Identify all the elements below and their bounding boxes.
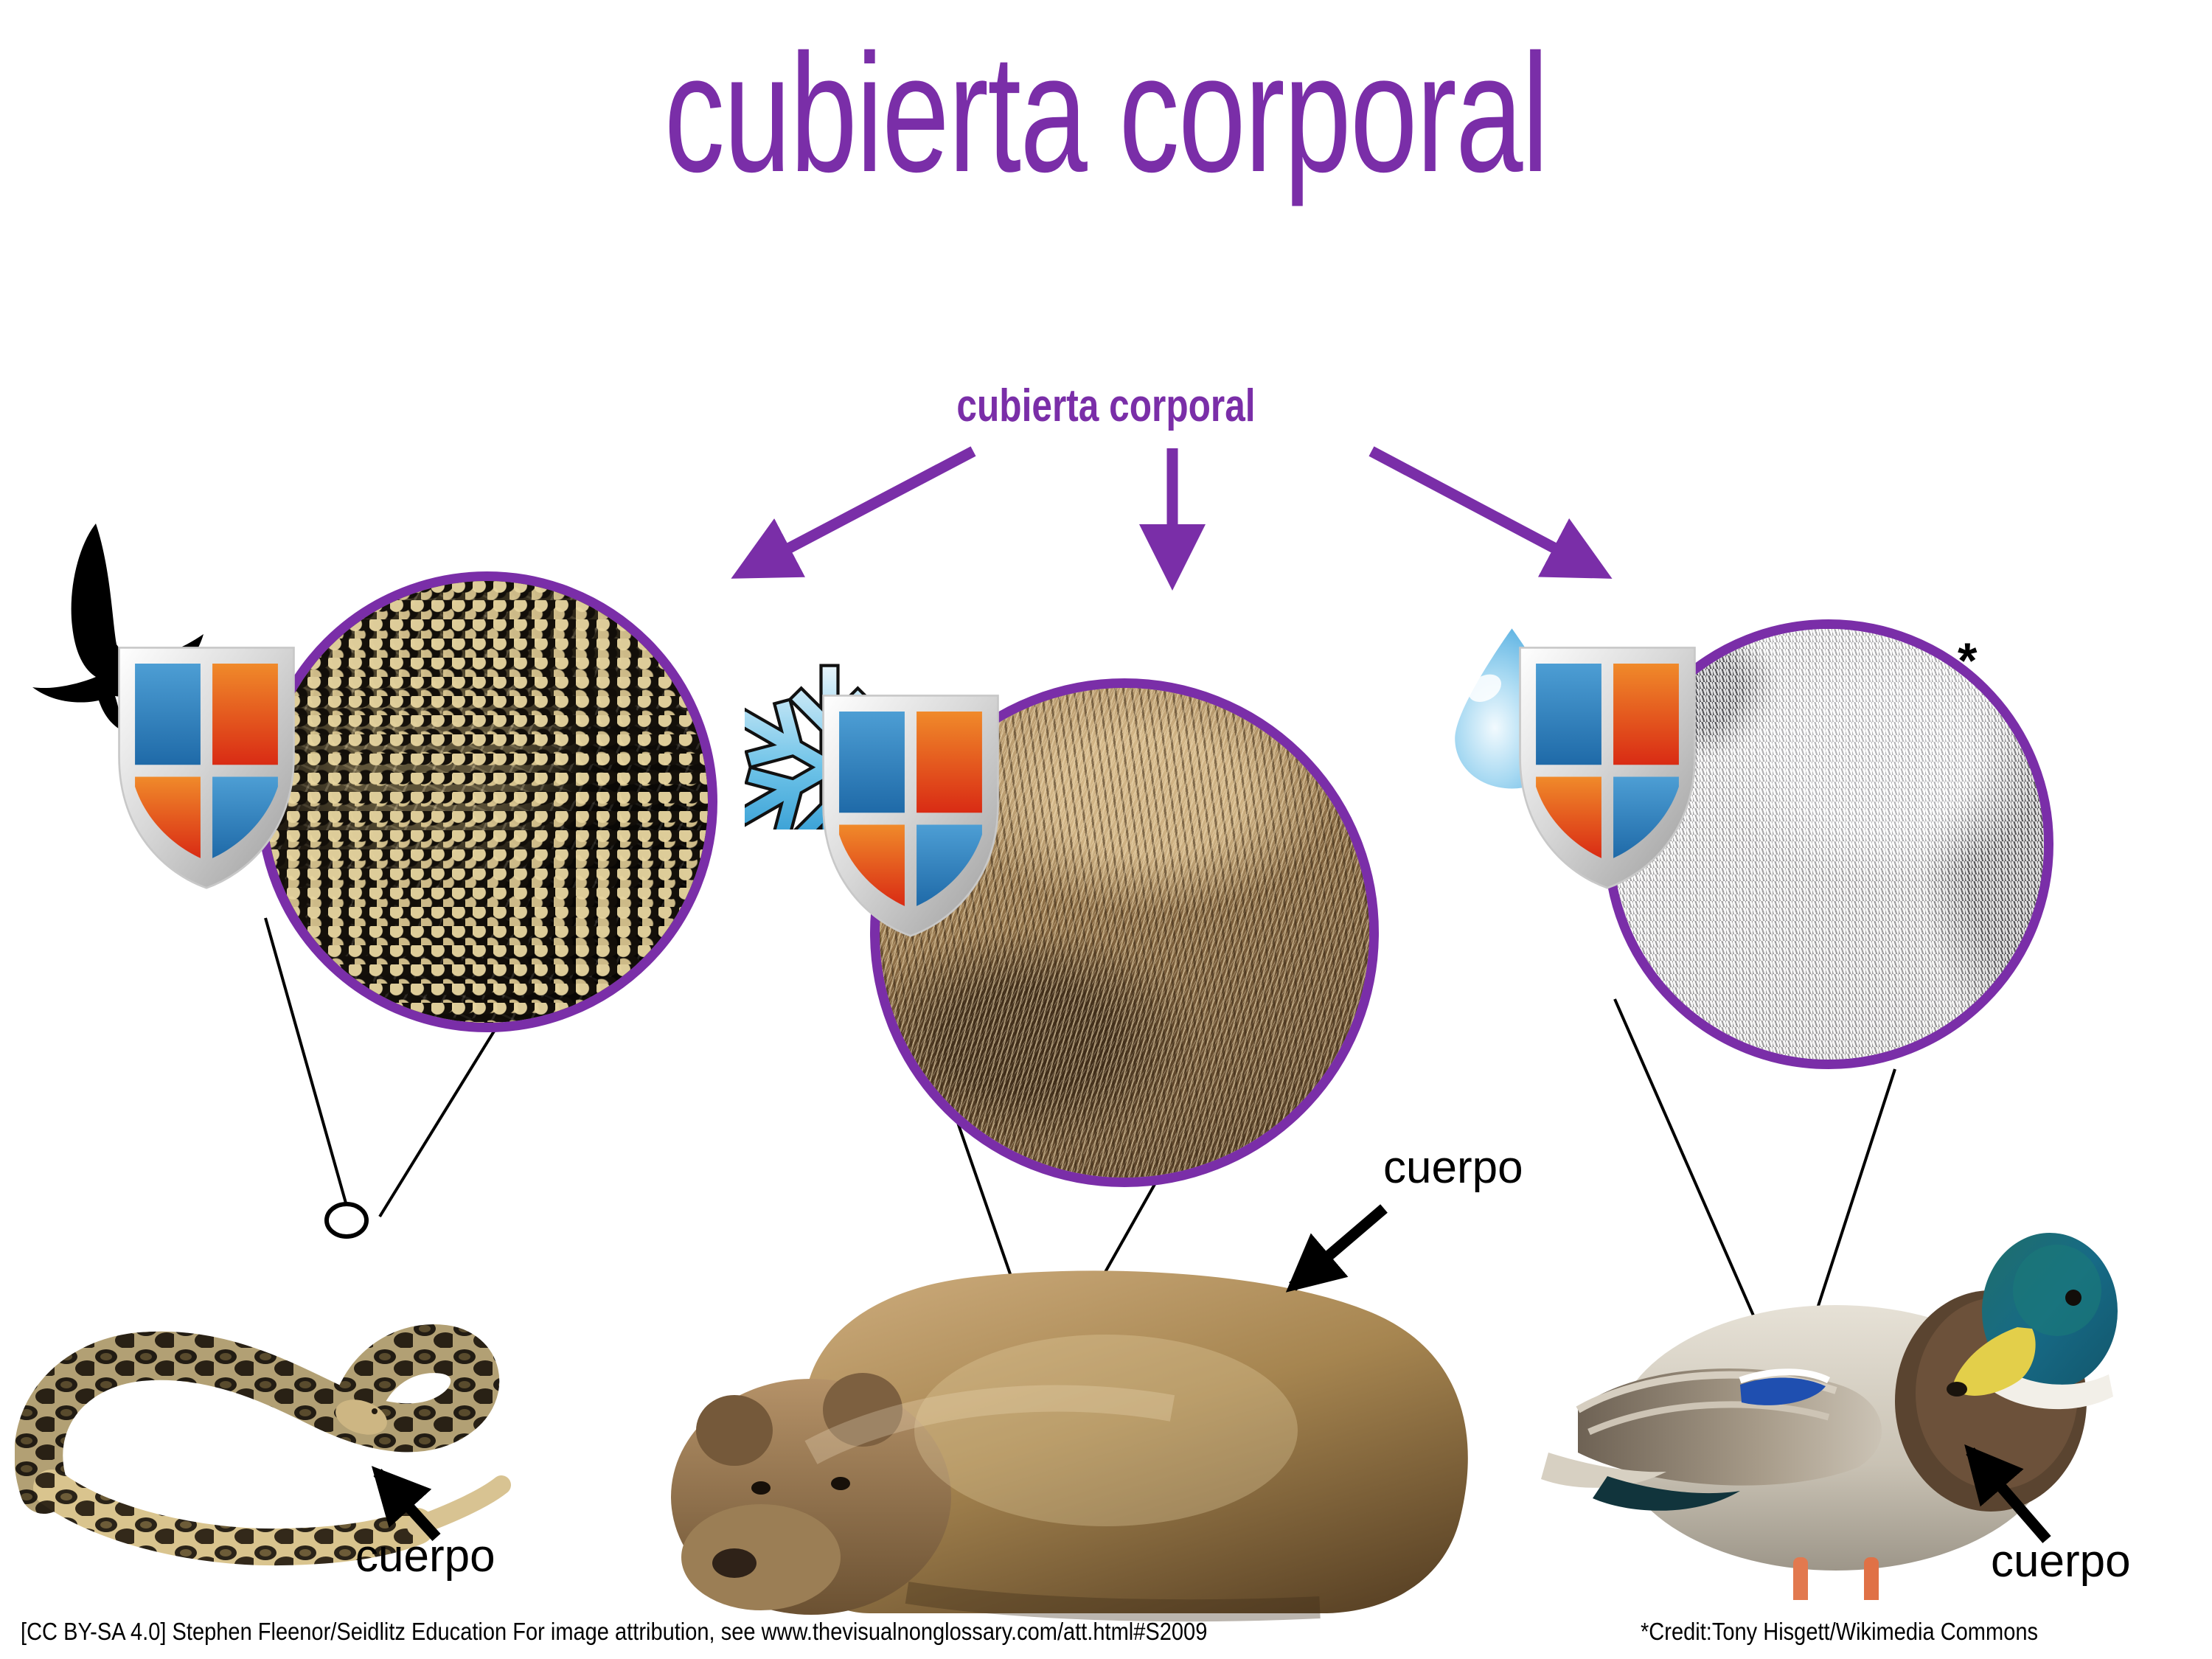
shield-icon [107,638,306,896]
callout-arrows [664,435,1696,605]
credit-text: *Credit:Tony Hisgett/Wikimedia Commons [1641,1618,2038,1646]
poster-canvas: cubierta corporal cubierta corporal [0,0,2212,1659]
shield-icon [1508,638,1707,896]
shield-icon [811,686,1010,944]
attribution-text: [CC BY-SA 4.0] Stephen Fleenor/Seidlitz … [21,1618,1207,1646]
snake-scales-texture [266,581,708,1023]
body-arrow-duck [1932,1438,2065,1548]
magnifier-snake-scales [257,571,717,1032]
page-title: cubierta corporal [310,29,1902,198]
footnote-asterisk: * [1958,636,1977,686]
python-snake-image [15,1180,656,1600]
arrow-right [1371,451,1599,571]
body-arrow-snake [347,1464,465,1545]
arrow-left [745,451,973,571]
body-label-bear: cuerpo [1383,1141,1523,1194]
callout-label: cubierta corporal [917,380,1295,432]
body-arrow-bear [1272,1198,1397,1301]
